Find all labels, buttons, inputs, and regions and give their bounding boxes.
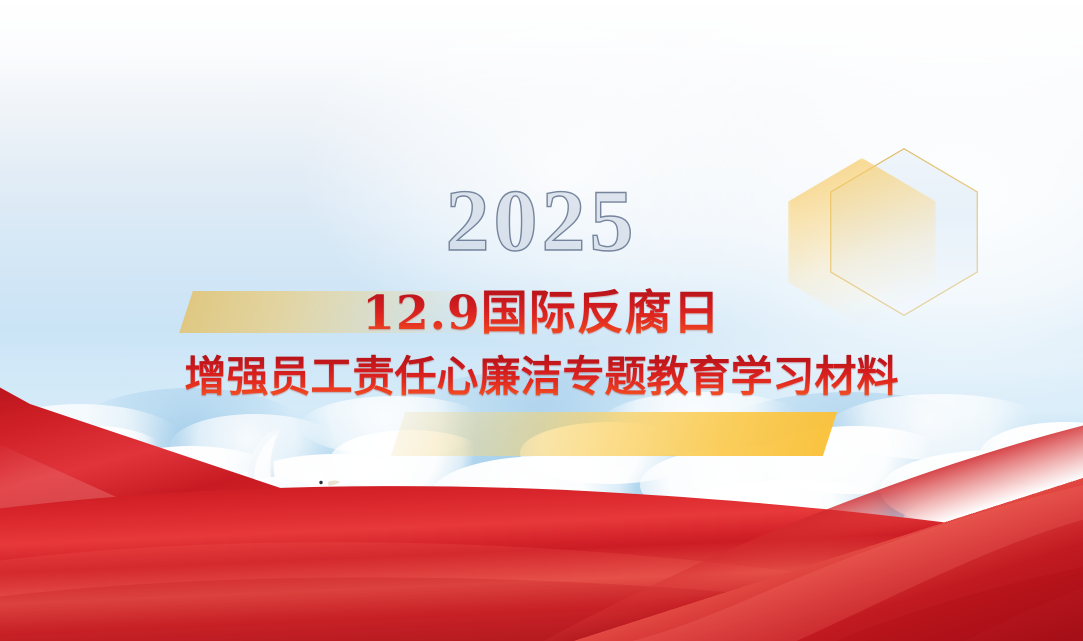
- cloud-puff: [300, 396, 490, 456]
- poster-canvas: 2025 12.9国际反腐日 增强员工责任心廉洁专题教育学习材料: [0, 0, 1083, 641]
- cloud-floor: [0, 531, 1083, 641]
- page-subtitle: 增强员工责任心廉洁专题教育学习材料: [0, 354, 1083, 400]
- page-title: 12.9国际反腐日: [0, 288, 1083, 340]
- year-text: 2025: [0, 178, 1083, 266]
